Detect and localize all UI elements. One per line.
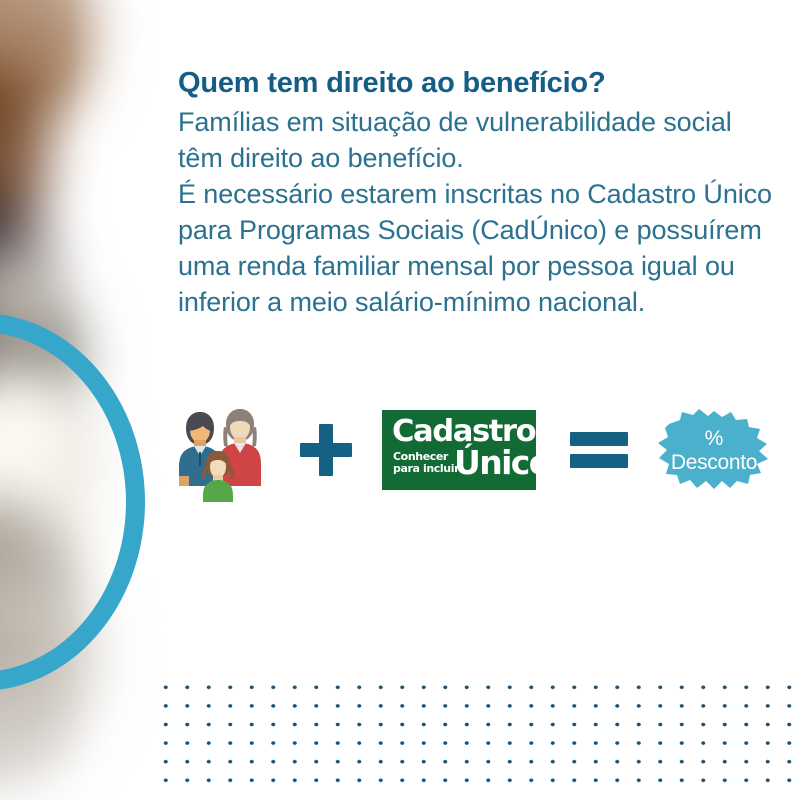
paragraph-1: Famílias em situação de vulnerabilidade … [178,105,778,177]
badge-label: Desconto [671,452,757,473]
badge-percent-symbol: % [671,428,757,449]
badge-text: % Desconto [671,428,757,473]
family-icon [170,398,274,502]
logo-tagline: Conhecer para incluir [393,451,459,476]
eligibility-equation: Cadastro Conhecer para incluir Único % D… [170,396,750,504]
infographic-slide: Quem tem direito ao benefício? Famílias … [0,0,800,800]
plus-icon [300,424,352,476]
text-block: Quem tem direito ao benefício? Famílias … [178,66,778,321]
logo-tagline-line2: para incluir [393,463,459,475]
cadastro-unico-logo: Cadastro Conhecer para incluir Único [382,410,536,490]
discount-badge: % Desconto [656,406,772,494]
logo-word-unico: Único [454,446,536,479]
page-title: Quem tem direito ao benefício? [178,66,778,101]
body-copy: Famílias em situação de vulnerabilidade … [178,105,778,320]
dot-grid-decoration [155,678,800,792]
equals-icon [570,430,628,470]
paragraph-2: É necessário estarem inscritas no Cadast… [178,177,778,321]
